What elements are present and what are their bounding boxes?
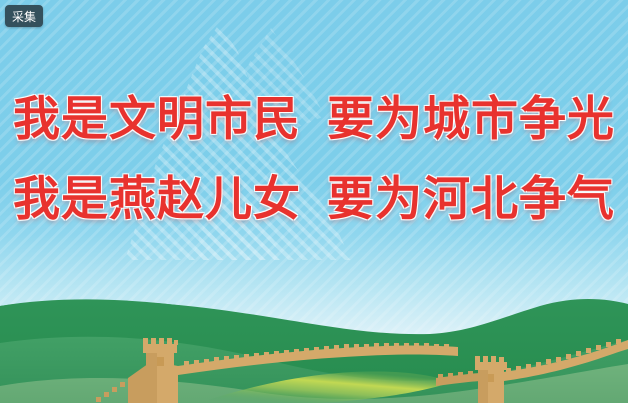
slogan-line-1-part-1: 我是文明市民 (13, 92, 301, 147)
slogan-container: 我是文明市民要为城市争光 我是燕赵儿女要为河北争气 (0, 0, 628, 403)
slogan-line-2-part-2: 要为河北争气 (327, 172, 615, 227)
banner-screenshot: 我是文明市民要为城市争光 我是燕赵儿女要为河北争气 采集 (0, 0, 628, 403)
slogan-line-2: 我是燕赵儿女要为河北争气 (13, 176, 615, 223)
capture-button-label: 采集 (12, 8, 36, 25)
slogan-line-1-part-2: 要为城市争光 (327, 92, 615, 147)
slogan-line-2-part-1: 我是燕赵儿女 (13, 172, 301, 227)
capture-button[interactable]: 采集 (5, 5, 43, 27)
slogan-line-1: 我是文明市民要为城市争光 (13, 96, 615, 143)
